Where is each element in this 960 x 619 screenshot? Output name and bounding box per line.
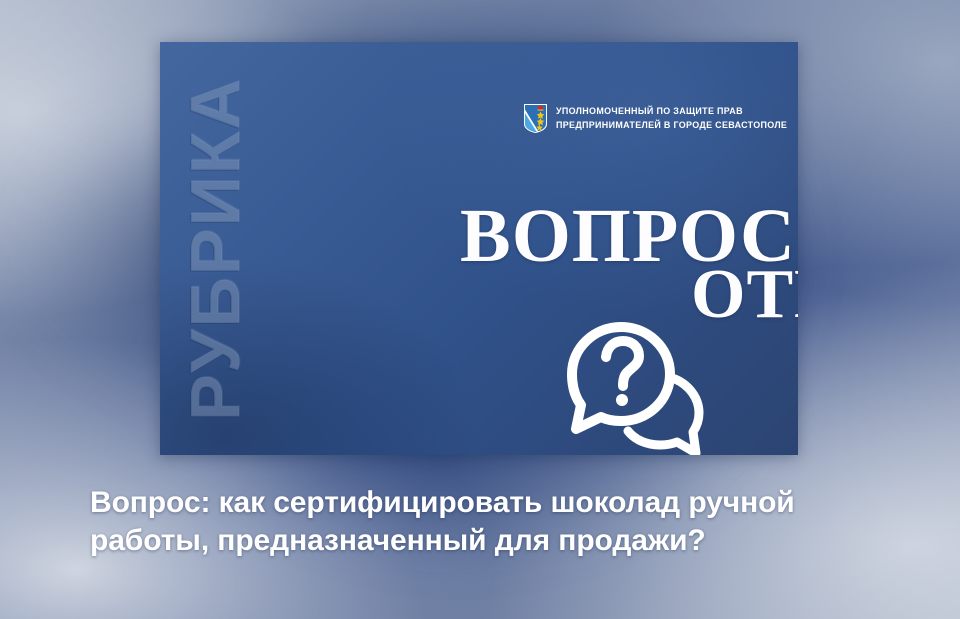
sevastopol-coat-of-arms-icon [523, 103, 548, 134]
poster-stage: РУБРИКА Уполномоченный по защите прав Пр… [0, 0, 960, 619]
caption-line-2: работы, предназначенный для продажи? [90, 522, 890, 560]
question-speech-bubbles-icon [564, 314, 734, 455]
org-title-line-2: Предпринимателей в городе Севастополе [556, 119, 787, 133]
org-header: Уполномоченный по защите прав Предприним… [523, 103, 798, 134]
rubric-strip: РУБРИКА [160, 42, 270, 455]
caption-line-1: Вопрос: как сертифицировать шоколад ручн… [90, 484, 890, 522]
poster-card: РУБРИКА Уполномоченный по защите прав Пр… [160, 42, 798, 455]
org-title-block: Уполномоченный по защите прав Предприним… [556, 105, 787, 133]
rubric-label: РУБРИКА [180, 77, 250, 421]
caption-text: Вопрос: как сертифицировать шоколад ручн… [90, 484, 890, 561]
org-title-line-1: Уполномоченный по защите прав [556, 105, 787, 119]
